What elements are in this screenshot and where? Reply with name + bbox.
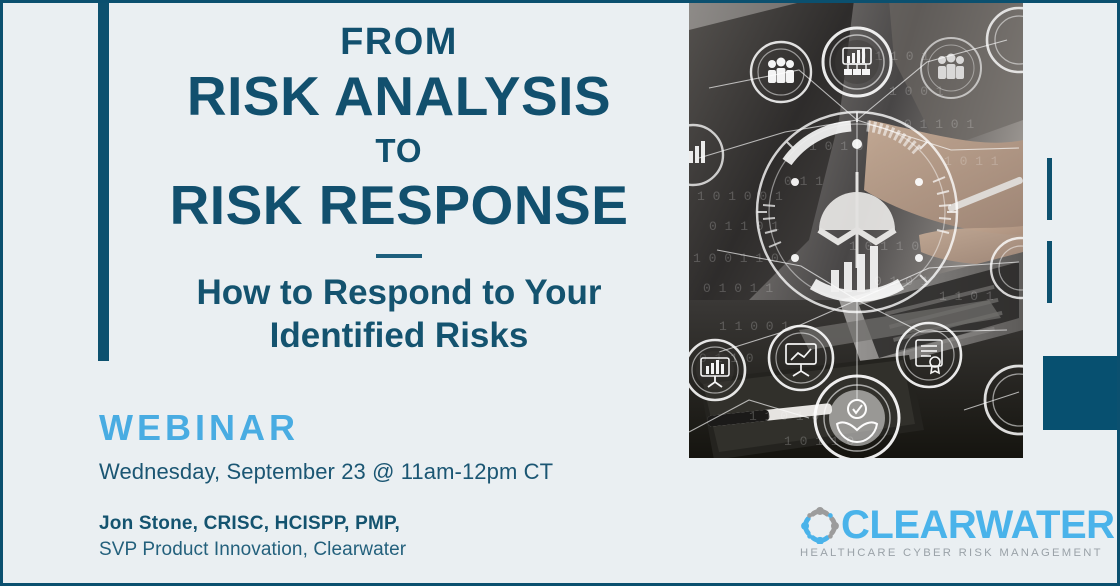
svg-text:1 1 0 1 0: 1 1 0 1 0 bbox=[749, 409, 819, 424]
right-accent-block bbox=[1043, 356, 1120, 430]
svg-text:1 0 1 1: 1 0 1 1 bbox=[944, 154, 999, 169]
subtitle-line-1: How to Respond to Your bbox=[113, 272, 685, 315]
clearwater-network-mark-icon bbox=[800, 506, 840, 544]
hero-photo: 1 0 1 0 0 1 0 1 1 0 1 1 0 0 1 1 0 0 1 0 … bbox=[689, 0, 1023, 458]
clearwater-wordmark: CLEARWATER bbox=[841, 506, 1115, 544]
clearwater-tagline: HEALTHCARE CYBER RISK MANAGEMENT bbox=[800, 547, 1092, 559]
headline-risk-analysis: RISK ANALYSIS bbox=[113, 66, 685, 128]
clearwater-logo: CLEARWATER HEALTHCARE CYBER RISK MANAGEM… bbox=[800, 506, 1092, 562]
svg-text:0 1 1: 0 1 1 bbox=[784, 174, 823, 189]
speaker-name: Jon Stone, CRISC, HCISPP, PMP, bbox=[99, 513, 659, 535]
headline-block: FROM RISK ANALYSIS TO RISK RESPONSE How … bbox=[113, 21, 685, 358]
left-accent-bar bbox=[98, 0, 109, 361]
speaker-title: SVP Product Innovation, Clearwater bbox=[99, 539, 659, 561]
headline-from: FROM bbox=[113, 21, 685, 64]
subtitle-line-2: Identified Risks bbox=[113, 315, 685, 358]
headline-divider-rule bbox=[376, 254, 422, 258]
svg-text:1 1 0 0 1: 1 1 0 0 1 bbox=[719, 319, 789, 334]
right-accent-tick-2 bbox=[1047, 241, 1052, 303]
headline-to: TO bbox=[113, 131, 685, 171]
event-datetime: Wednesday, September 23 @ 11am-12pm CT bbox=[99, 459, 659, 485]
webinar-poster: FROM RISK ANALYSIS TO RISK RESPONSE How … bbox=[0, 0, 1120, 586]
svg-text:1 0 1 1 0: 1 0 1 1 0 bbox=[849, 239, 919, 254]
svg-text:1 1 0 1: 1 1 0 1 bbox=[939, 289, 994, 304]
svg-text:0 1 0 1 1: 0 1 0 1 1 bbox=[703, 281, 773, 296]
event-details-block: WEBINAR Wednesday, September 23 @ 11am-1… bbox=[99, 408, 659, 561]
headline-risk-response: RISK RESPONSE bbox=[113, 175, 685, 237]
right-accent-tick-1 bbox=[1047, 158, 1052, 220]
event-type-label: WEBINAR bbox=[99, 408, 659, 448]
hero-photo-image: 1 0 1 0 0 1 0 1 1 0 1 1 0 0 1 1 0 0 1 0 … bbox=[689, 0, 1023, 458]
